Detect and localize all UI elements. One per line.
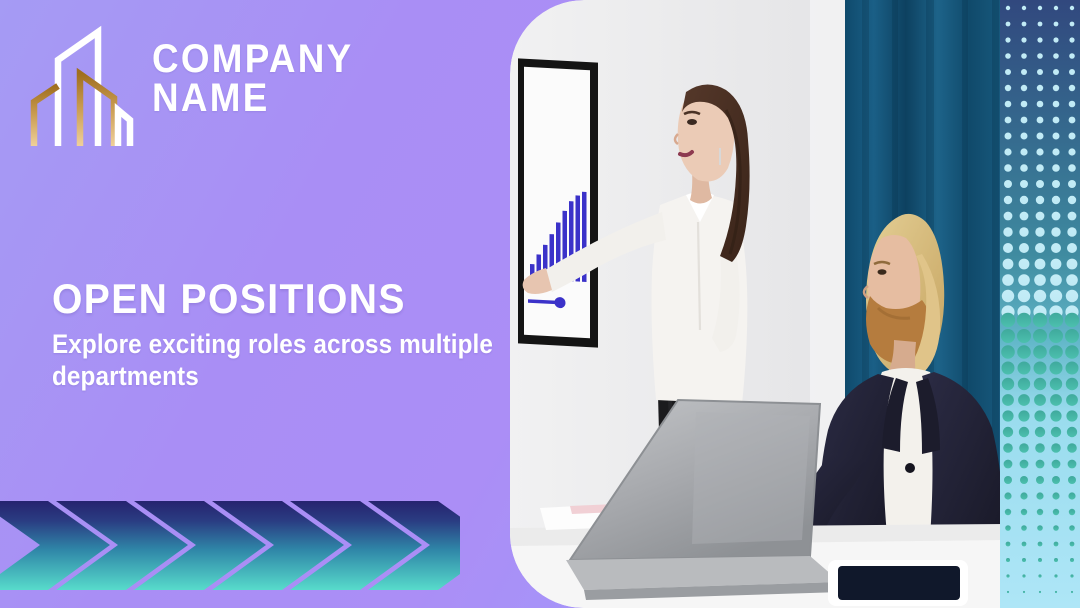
- open-positions-banner: COMPANY NAME OPEN POSITIONS Explore exci…: [0, 0, 1080, 608]
- brand-name: COMPANY NAME: [152, 40, 371, 124]
- brand-name-line1: COMPANY: [152, 40, 353, 79]
- chevron-decoration: [0, 483, 460, 608]
- brand-logo[interactable]: COMPANY NAME: [26, 18, 371, 146]
- smartphone: [828, 560, 968, 606]
- halftone-decoration: [1000, 0, 1080, 608]
- framed-chart-poster: [518, 58, 598, 347]
- page-title: OPEN POSITIONS: [52, 278, 471, 320]
- brand-name-line2: NAME: [152, 79, 353, 118]
- headline-block: OPEN POSITIONS Explore exciting roles ac…: [52, 278, 502, 393]
- page-subtitle: Explore exciting roles across multiple d…: [52, 329, 502, 393]
- photo-content: [510, 0, 1005, 608]
- hero-photo: [510, 0, 1005, 608]
- building-skyline-icon: [26, 18, 138, 146]
